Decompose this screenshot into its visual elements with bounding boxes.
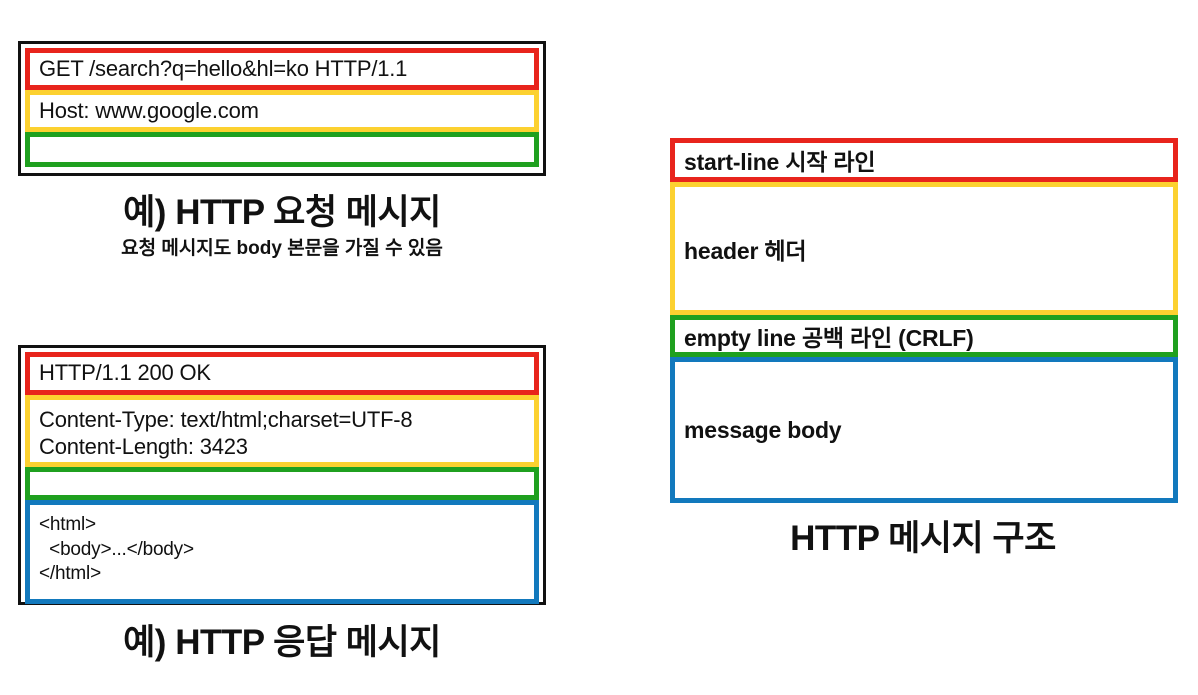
request-header-text: Host: www.google.com <box>39 98 259 125</box>
response-message-body-segment: <html> <body>...</body> </html> <box>25 500 539 604</box>
response-start-line-text: HTTP/1.1 200 OK <box>39 360 211 387</box>
structure-header-label: header 헤더 <box>684 232 806 266</box>
request-start-line-text: GET /search?q=hello&hl=ko HTTP/1.1 <box>39 56 407 83</box>
structure-message-body-segment: message body <box>670 357 1178 503</box>
structure-message-body-label: message body <box>684 417 841 444</box>
response-example-caption: 예) HTTP 응답 메시지 <box>18 614 546 665</box>
http-request-example-card: GET /search?q=hello&hl=ko HTTP/1.1 Host:… <box>18 41 546 176</box>
structure-start-line-label: start-line 시작 라인 <box>684 143 875 177</box>
response-header-text: Content-Type: text/html;charset=UTF-8 Co… <box>39 407 412 461</box>
response-empty-line-segment <box>25 467 539 500</box>
structure-empty-line-label: empty line 공백 라인 (CRLF) <box>684 319 974 353</box>
request-example-caption: 예) HTTP 요청 메시지 <box>18 184 546 235</box>
response-start-line-segment: HTTP/1.1 200 OK <box>25 352 539 395</box>
structure-header-segment: header 헤더 <box>670 182 1178 315</box>
structure-start-line-segment: start-line 시작 라인 <box>670 138 1178 182</box>
structure-diagram-caption: HTTP 메시지 구조 <box>668 510 1178 561</box>
structure-empty-line-segment: empty line 공백 라인 (CRLF) <box>670 315 1178 357</box>
response-header-segment: Content-Type: text/html;charset=UTF-8 Co… <box>25 395 539 467</box>
request-start-line-segment: GET /search?q=hello&hl=ko HTTP/1.1 <box>25 48 539 90</box>
http-message-structure-diagram: start-line 시작 라인 header 헤더 empty line 공백… <box>670 138 1178 503</box>
response-message-body-text: <html> <body>...</body> </html> <box>39 513 194 587</box>
request-empty-line-segment <box>25 132 539 167</box>
request-example-subcaption: 요청 메시지도 body 본문을 가질 수 있음 <box>18 233 546 260</box>
slide-canvas: GET /search?q=hello&hl=ko HTTP/1.1 Host:… <box>0 0 1198 695</box>
request-header-segment: Host: www.google.com <box>25 90 539 132</box>
http-response-example-card: HTTP/1.1 200 OK Content-Type: text/html;… <box>18 345 546 605</box>
